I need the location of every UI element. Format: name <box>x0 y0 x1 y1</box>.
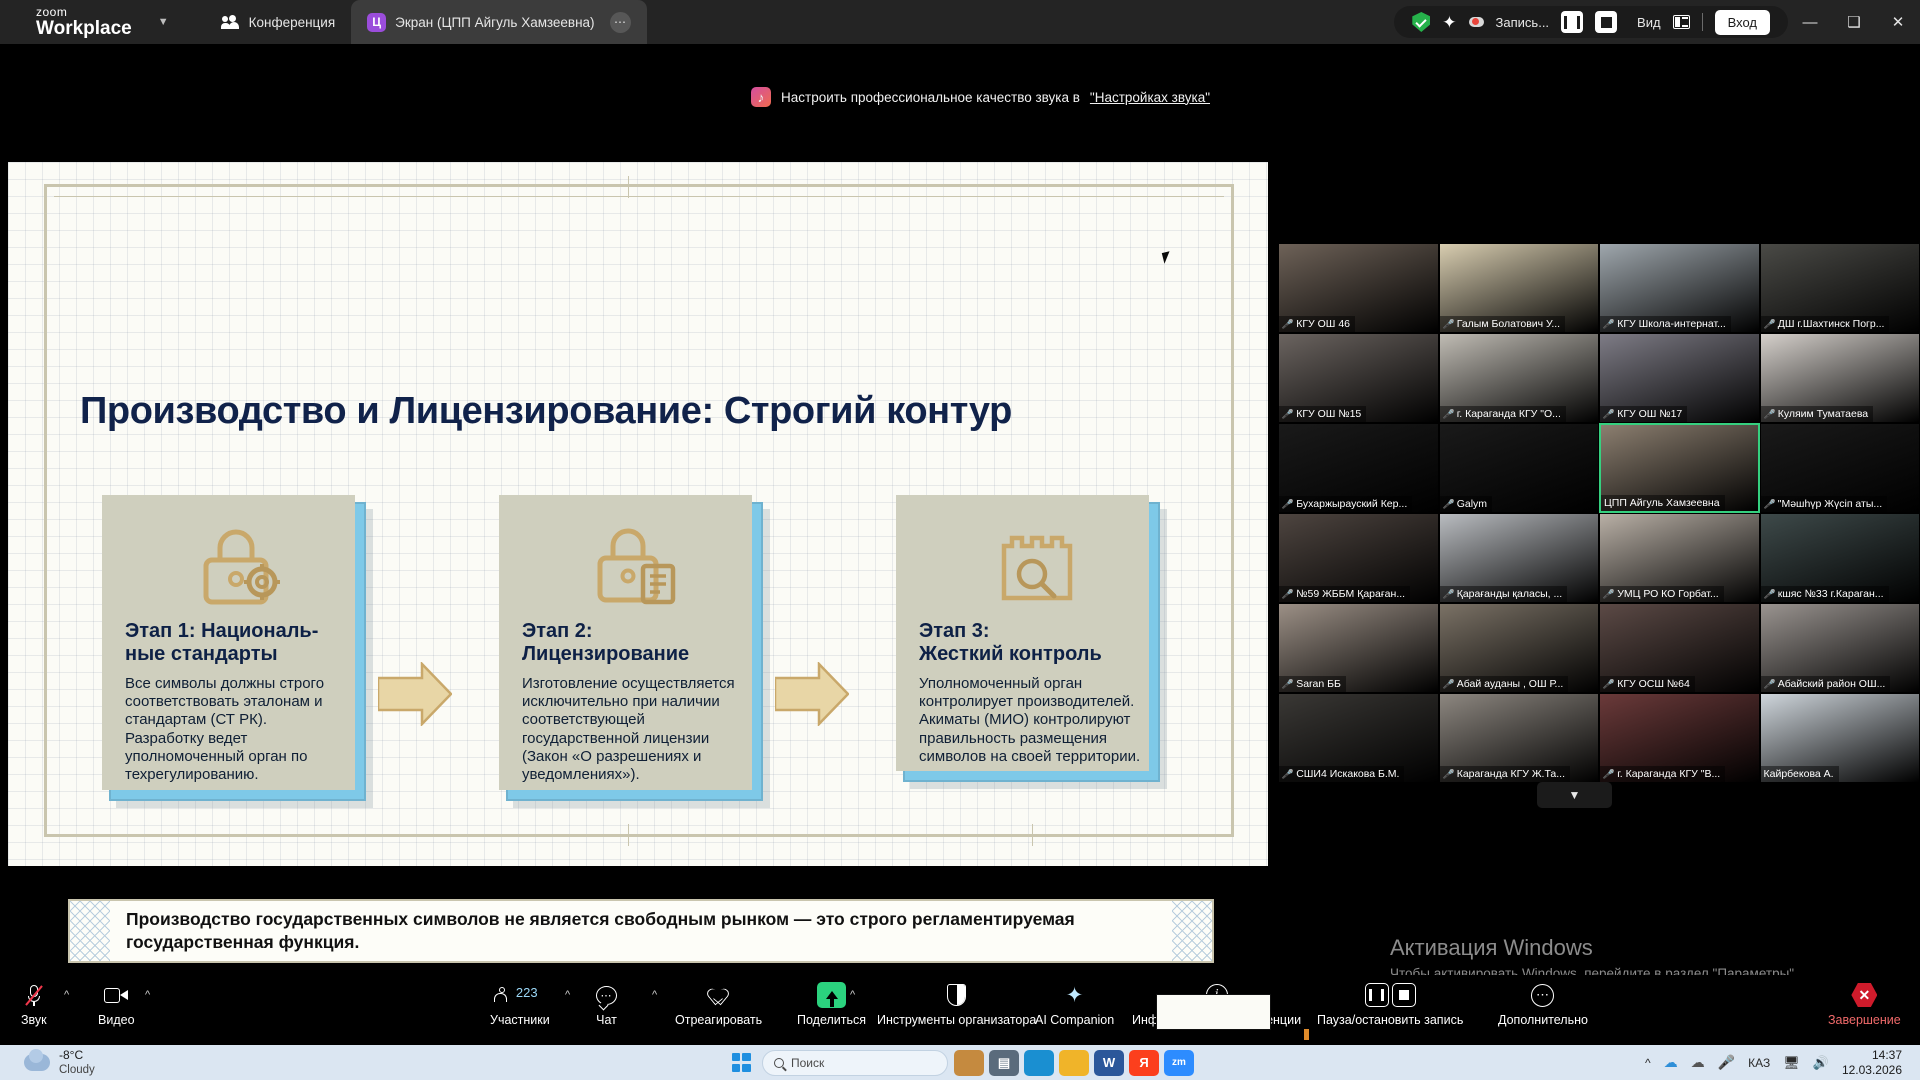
end-meeting-button[interactable]: ✕ Завершение <box>1828 979 1901 1027</box>
microphone-muted-icon: 🎤 <box>1442 679 1455 690</box>
participant-tile[interactable]: 🎤№59 ЖББМ Қараған... <box>1278 513 1439 603</box>
participant-tile[interactable]: 🎤Абай ауданы , ОШ Р... <box>1439 603 1600 693</box>
tab-more-options-icon[interactable]: ⋯ <box>610 12 631 33</box>
microphone-muted-icon: 🎤 <box>1281 409 1294 420</box>
heart-icon <box>708 979 729 1011</box>
participant-name: "Мәшһүр Жүсіп аты... <box>1778 498 1882 510</box>
padlock-document-icon <box>508 518 761 610</box>
chat-button[interactable]: ⋯ Чат <box>596 979 617 1027</box>
end-call-icon: ✕ <box>1851 979 1877 1011</box>
participant-name-badge: 🎤г. Караганда КГУ "В... <box>1600 766 1725 782</box>
word-icon[interactable]: W <box>1094 1050 1124 1076</box>
zoom-icon[interactable]: zm <box>1164 1050 1194 1076</box>
participant-name: Бухаржырауский Кер... <box>1296 498 1407 510</box>
more-label: Дополнительно <box>1498 1013 1588 1027</box>
microphone-muted-icon: 🎤 <box>1281 769 1294 780</box>
microphone-muted-icon: 🎤 <box>1281 319 1294 330</box>
ruler-top <box>44 184 1234 187</box>
weather-widget[interactable]: -8°C Cloudy <box>24 1048 95 1077</box>
microphone-muted-icon: 🎤 <box>1281 589 1294 600</box>
microphone-muted-icon: 🎤 <box>1602 589 1615 600</box>
participant-name: кшяс №33 г.Караган... <box>1778 588 1884 600</box>
ai-companion-label: AI Companion <box>1035 1013 1114 1027</box>
caption-hatch-right <box>1172 901 1212 961</box>
participant-tile[interactable]: 🎤КГУ ОШ 46 <box>1278 243 1439 333</box>
flow-arrow-2 <box>775 662 849 726</box>
screen-share-badge: Ц <box>367 13 386 32</box>
participant-tile[interactable]: 🎤СШИ4 Искакова Б.М. <box>1278 693 1439 783</box>
ruler-left <box>44 184 47 836</box>
view-label[interactable]: Вид <box>1637 15 1661 30</box>
windows-taskbar: -8°C Cloudy Поиск ▤WЯzm ^ ☁ ☁ 🎤 КАЗ 🖥 🔊 … <box>0 1045 1920 1080</box>
participant-tile[interactable]: 🎤КГУ ОШ №15 <box>1278 333 1439 423</box>
clock-date: 12.03.2026 <box>1842 1063 1902 1078</box>
share-screen-icon <box>817 979 846 1011</box>
meeting-toolbar: Звук ^ Видео ^ 223 Участники ^ ⋯ Чат ^ О… <box>0 975 1920 1045</box>
video-button[interactable]: Видео <box>98 979 135 1027</box>
status-pill: ✦ Запись... Вид Вход <box>1394 6 1788 38</box>
participant-name-badge: 🎤Галым Болатович У... <box>1440 316 1566 332</box>
stage-2-body: Изготовление осуществляется исключительн… <box>508 671 761 799</box>
microphone-muted-icon: 🎤 <box>1442 499 1455 510</box>
ellipsis-icon: ⋯ <box>1531 979 1554 1011</box>
host-shield-icon <box>947 979 966 1011</box>
participant-tile[interactable]: 🎤КГУ ОСШ №64 <box>1599 603 1760 693</box>
clock-time: 14:37 <box>1842 1048 1902 1063</box>
participant-name: Кайрбекова А. <box>1764 768 1834 780</box>
participant-name-badge: 🎤№59 ЖББМ Қараған... <box>1279 586 1410 602</box>
chat-label: Чат <box>596 1013 617 1027</box>
divider <box>1702 13 1703 31</box>
participant-tile[interactable]: 🎤КГУ ОШ №17 <box>1599 333 1760 423</box>
more-button[interactable]: ⋯ Дополнительно <box>1498 979 1588 1027</box>
host-tools-label: Инструменты организатора <box>877 1013 1036 1027</box>
participant-name-badge: 🎤Абайский район ОШ... <box>1761 676 1891 692</box>
participant-name: Saran ББ <box>1296 678 1341 690</box>
react-label: Отреагировать <box>675 1013 762 1027</box>
microphone-muted-icon: 🎤 <box>1763 409 1776 420</box>
taskbar-apps: ▤WЯzm <box>954 1050 1194 1076</box>
microphone-muted-icon: 🎤 <box>1442 589 1455 600</box>
restore-icon[interactable]: ❑ <box>1832 0 1876 44</box>
participant-name: СШИ4 Искакова Б.М. <box>1296 768 1399 780</box>
close-icon[interactable]: ✕ <box>1876 0 1920 44</box>
tab-conference-label: Конференция <box>249 15 336 30</box>
stage-3-heading: Этап 3:Жесткий контроль <box>905 610 1158 671</box>
participant-name: Қарағанды қаласы, ... <box>1457 588 1562 600</box>
share-button[interactable]: Поделиться <box>797 979 866 1027</box>
minimize-icon[interactable]: — <box>1788 0 1832 44</box>
caption-hatch-left <box>70 901 110 961</box>
search-placeholder: Поиск <box>791 1056 824 1070</box>
recording-label: Пауза/остановить запись <box>1317 1013 1463 1027</box>
brand-line-2: Workplace <box>36 19 132 38</box>
display-icon[interactable]: 🖥 <box>1783 1055 1800 1071</box>
audio-options-caret-icon[interactable]: ^ <box>64 989 69 1001</box>
window-titlebar: zoom Workplace ▼ Конференция Ц Экран (ЦП… <box>0 0 1920 44</box>
pause-icon[interactable] <box>1365 983 1389 1007</box>
microphone-muted-icon: 🎤 <box>1442 769 1455 780</box>
participant-name-badge: 🎤ДШ г.Шахтинск Погр... <box>1761 316 1890 332</box>
music-note-icon: ♪ <box>751 87 771 107</box>
tab-screen-share[interactable]: Ц Экран (ЦПП Айгуль Хамзеевна) ⋯ <box>351 0 646 44</box>
ai-sparkle-icon: ✦ <box>1066 979 1084 1011</box>
participant-name-badge: 🎤Бухаржырауский Кер... <box>1279 496 1412 512</box>
ruler-right <box>1231 184 1234 836</box>
ruler-tick-right <box>1032 824 1033 846</box>
audio-quality-notification: ♪ Настроить профессиональное качество зв… <box>737 79 1228 115</box>
stage-2-heading: Этап 2:Лицензирование <box>508 610 761 671</box>
microphone-muted-icon: 🎤 <box>1763 319 1776 330</box>
participant-name: КГУ ОШ 46 <box>1296 318 1350 330</box>
participants-button[interactable]: 223 Участники <box>490 979 550 1027</box>
search-icon <box>774 1058 784 1068</box>
participant-name-badge: 🎤Қарағанды қаласы, ... <box>1440 586 1568 602</box>
stage-1-body: Все символы должны строго соответствоват… <box>111 671 364 799</box>
share-caret-icon[interactable]: ^ <box>850 989 855 1001</box>
clock[interactable]: 14:37 12.03.2026 <box>1842 1048 1902 1078</box>
participant-tile[interactable]: 🎤Бухаржырауский Кер... <box>1278 423 1439 513</box>
share-label: Поделиться <box>797 1013 866 1027</box>
participant-name-badge: 🎤КГУ ОШ №17 <box>1600 406 1687 422</box>
titlebar-right-controls: ✦ Запись... Вид Вход — ❑ ✕ <box>1394 0 1920 44</box>
microphone-muted-icon: 🎤 <box>1763 499 1776 510</box>
explorer-icon[interactable] <box>1059 1050 1089 1076</box>
microphone-muted-icon: 🎤 <box>1602 319 1615 330</box>
microphone-muted-icon: 🎤 <box>1281 499 1294 510</box>
participant-tile[interactable]: 🎤УМЦ РО КО Горбат... <box>1599 513 1760 603</box>
participant-grid: 🎤КГУ ОШ 46🎤Галым Болатович У...🎤КГУ Школ… <box>1278 243 1920 783</box>
participant-name: №59 ЖББМ Қараған... <box>1296 588 1405 600</box>
volume-icon[interactable]: 🔊 <box>1813 1055 1829 1071</box>
participant-name: КГУ ОСШ №64 <box>1617 678 1690 690</box>
end-meeting-label: Завершение <box>1828 1013 1901 1027</box>
participant-name-badge: 🎤Куляим Туматаева <box>1761 406 1874 422</box>
participant-name: г. Караганда КГУ "В... <box>1617 768 1720 780</box>
camera-icon <box>104 979 128 1011</box>
windows-start-icon[interactable] <box>726 1050 756 1076</box>
participant-name-badge: Кайрбекова А. <box>1761 766 1839 782</box>
ruler-tick-top <box>628 176 629 198</box>
participant-name-badge: 🎤Galym <box>1440 496 1493 512</box>
stop-icon[interactable] <box>1392 983 1416 1007</box>
onedrive-icon[interactable]: ☁ <box>1664 1054 1678 1071</box>
microphone-muted-icon: 🎤 <box>1602 409 1615 420</box>
participant-tile[interactable]: 🎤Абайский район ОШ... <box>1760 603 1920 693</box>
slide-title: Производство и Лицензирование: Строгий к… <box>80 390 1012 433</box>
participant-tile[interactable]: 🎤Saran ББ <box>1278 603 1439 693</box>
weather-temperature: -8°C <box>59 1048 95 1063</box>
brand-dropdown-chevron-icon[interactable]: ▼ <box>158 16 169 28</box>
participant-tile[interactable]: 🎤кшяс №33 г.Караган... <box>1760 513 1920 603</box>
brand-line-1: zoom <box>36 6 132 18</box>
stage-3-body: Уполномоченный орган контролирует произв… <box>905 671 1158 780</box>
microphone-muted-icon: 🎤 <box>1281 679 1294 690</box>
taskview-icon[interactable] <box>954 1050 984 1076</box>
microphone-muted-icon: 🎤 <box>1763 679 1776 690</box>
slide-selection-box[interactable] <box>1156 994 1271 1030</box>
stage-card-3: Этап 3:Жесткий контроль Уполномоченный о… <box>903 502 1160 782</box>
widgets-icon[interactable]: ▤ <box>989 1050 1019 1076</box>
microphone-muted-icon: 🎤 <box>1442 409 1455 420</box>
edge-icon[interactable] <box>1024 1050 1054 1076</box>
recording-indicator <box>1304 1029 1309 1040</box>
system-tray: ^ ☁ ☁ 🎤 КАЗ 🖥 🔊 14:37 12.03.2026 <box>1645 1048 1902 1078</box>
tab-conference[interactable]: Конференция <box>205 0 352 44</box>
participant-tile[interactable]: 🎤КГУ Школа-интернат... <box>1599 243 1760 333</box>
microphone-muted-icon: 🎤 <box>1602 679 1615 690</box>
participant-name: г. Караганда КГУ "О... <box>1457 408 1561 420</box>
recording-status-label: Запись... <box>1496 15 1550 30</box>
stage-card-1: Этап 1: Националь-ные стандарты Все симв… <box>109 502 366 801</box>
participant-name-badge: 🎤г. Караганда КГУ "О... <box>1440 406 1566 422</box>
participant-name: Галым Болатович У... <box>1457 318 1560 330</box>
fortress-magnifier-icon <box>905 518 1158 610</box>
tab-screen-label: Экран (ЦПП Айгуль Хамзеевна) <box>395 15 594 30</box>
stage-1-heading: Этап 1: Националь-ные стандарты <box>111 610 364 671</box>
participant-name: Galym <box>1457 498 1487 510</box>
participant-name: Куляим Туматаева <box>1778 408 1868 420</box>
audio-label: Звук <box>21 1013 47 1027</box>
participant-name: ЦПП Айгуль Хамзеевна <box>1604 497 1720 509</box>
watermark-title: Активация Windows <box>1390 935 1798 961</box>
weather-description: Cloudy <box>59 1063 95 1077</box>
recording-button[interactable]: Пауза/остановить запись <box>1317 979 1463 1027</box>
taskbar-center: Поиск ▤WЯzm <box>726 1050 1194 1076</box>
network-off-icon[interactable]: ☁ <box>1691 1054 1705 1071</box>
participant-name-badge: 🎤КГУ ОШ №15 <box>1279 406 1366 422</box>
host-tools-button[interactable]: Инструменты организатора <box>877 979 1036 1027</box>
cloud-icon <box>24 1054 50 1071</box>
microphone-muted-icon: 🎤 <box>1442 319 1455 330</box>
ai-companion-button[interactable]: ✦ AI Companion <box>1035 979 1114 1027</box>
chat-bubble-icon: ⋯ <box>596 979 617 1011</box>
participant-tile[interactable]: ЦПП Айгуль Хамзеевна <box>1599 423 1760 513</box>
participant-name-badge: 🎤КГУ ОСШ №64 <box>1600 676 1695 692</box>
participants-count: 223 <box>516 985 538 1000</box>
shared-screen-slide[interactable]: Производство и Лицензирование: Строгий к… <box>8 162 1268 866</box>
ruler-bottom <box>44 834 1234 837</box>
chevron-up-icon[interactable]: ^ <box>1645 1056 1651 1070</box>
participant-tile[interactable]: 🎤г. Караганда КГУ "О... <box>1439 333 1600 423</box>
participant-tile[interactable]: 🎤г. Караганда КГУ "В... <box>1599 693 1760 783</box>
participant-name: УМЦ РО КО Горбат... <box>1617 588 1718 600</box>
participant-tile[interactable]: 🎤Galym <box>1439 423 1600 513</box>
participant-name-badge: 🎤"Мәшһүр Жүсіп аты... <box>1761 496 1888 512</box>
microphone-icon[interactable]: 🎤 <box>1718 1054 1735 1071</box>
search-input[interactable]: Поиск <box>762 1050 948 1076</box>
participant-name-badge: 🎤КГУ ОШ 46 <box>1279 316 1355 332</box>
participant-name: Караганда КГУ Ж.Та... <box>1457 768 1565 780</box>
participant-name-badge: 🎤Saran ББ <box>1279 676 1346 692</box>
slide-caption: Производство государственных символов не… <box>68 899 1214 963</box>
window-tabs: Конференция Ц Экран (ЦПП Айгуль Хамзеевн… <box>205 0 647 44</box>
chevron-down-icon[interactable]: ▼ <box>1537 782 1612 808</box>
recording-controls <box>1365 979 1416 1011</box>
security-shield-icon[interactable] <box>1412 12 1430 32</box>
participant-name-badge: ЦПП Айгуль Хамзеевна <box>1601 495 1725 511</box>
participant-name-badge: 🎤СШИ4 Искакова Б.М. <box>1279 766 1404 782</box>
participant-name: КГУ Школа-интернат... <box>1617 318 1726 330</box>
participant-tile[interactable]: 🎤Қарағанды қаласы, ... <box>1439 513 1600 603</box>
microphone-muted-icon <box>27 979 41 1011</box>
microphone-muted-icon: 🎤 <box>1763 589 1776 600</box>
participant-tile[interactable]: 🎤Галым Болатович У... <box>1439 243 1600 333</box>
recording-cloud-icon <box>1469 17 1484 27</box>
participant-name: КГУ ОШ №17 <box>1617 408 1682 420</box>
participant-name-badge: 🎤УМЦ РО КО Горбат... <box>1600 586 1724 602</box>
ruler-top2 <box>54 196 1224 197</box>
participant-name: ДШ г.Шахтинск Погр... <box>1778 318 1885 330</box>
participant-tile[interactable]: 🎤ДШ г.Шахтинск Погр... <box>1760 243 1920 333</box>
participant-tile[interactable]: 🎤"Мәшһүр Жүсіп аты... <box>1760 423 1920 513</box>
stop-recording-icon[interactable] <box>1595 11 1617 33</box>
ai-sparkle-icon[interactable]: ✦ <box>1442 14 1456 31</box>
participant-tile[interactable]: Кайрбекова А. <box>1760 693 1920 783</box>
video-options-caret-icon[interactable]: ^ <box>145 989 150 1001</box>
login-button[interactable]: Вход <box>1715 10 1770 35</box>
pause-recording-icon[interactable] <box>1561 11 1583 33</box>
participants-label: Участники <box>490 1013 550 1027</box>
participant-name-badge: 🎤КГУ Школа-интернат... <box>1600 316 1731 332</box>
people-icon <box>221 15 240 30</box>
stage-card-2: Этап 2:Лицензирование Изготовление осуще… <box>506 502 763 801</box>
slide-caption-text: Производство государственных символов не… <box>110 908 1172 954</box>
flow-arrow-1 <box>378 662 452 726</box>
chat-caret-icon[interactable]: ^ <box>652 989 657 1001</box>
notification-text: Настроить профессиональное качество звук… <box>781 90 1080 105</box>
participant-name-badge: 🎤Караганда КГУ Ж.Та... <box>1440 766 1571 782</box>
audio-button[interactable]: Звук <box>21 979 47 1027</box>
participant-name: КГУ ОШ №15 <box>1296 408 1361 420</box>
participant-name-badge: 🎤Абай ауданы , ОШ Р... <box>1440 676 1569 692</box>
zoom-brand-logo: zoom Workplace <box>36 6 132 38</box>
padlock-gear-icon <box>111 518 364 610</box>
video-label: Видео <box>98 1013 135 1027</box>
language-indicator[interactable]: КАЗ <box>1748 1056 1770 1070</box>
yandex-icon[interactable]: Я <box>1129 1050 1159 1076</box>
people-icon: 223 <box>494 979 546 1011</box>
microphone-muted-icon: 🎤 <box>1602 769 1615 780</box>
participant-name: Абай ауданы , ОШ Р... <box>1457 678 1564 690</box>
participant-tile[interactable]: 🎤Куляим Туматаева <box>1760 333 1920 423</box>
ruler-tick-bottom <box>628 824 629 846</box>
layout-view-icon[interactable] <box>1673 15 1690 29</box>
participant-tile[interactable]: 🎤Караганда КГУ Ж.Та... <box>1439 693 1600 783</box>
participant-name: Абайский район ОШ... <box>1778 678 1886 690</box>
audio-settings-link[interactable]: "Настройках звука" <box>1090 90 1210 105</box>
participants-caret-icon[interactable]: ^ <box>565 989 570 1001</box>
participant-name-badge: 🎤кшяс №33 г.Караган... <box>1761 586 1889 602</box>
react-button[interactable]: Отреагировать <box>675 979 762 1027</box>
